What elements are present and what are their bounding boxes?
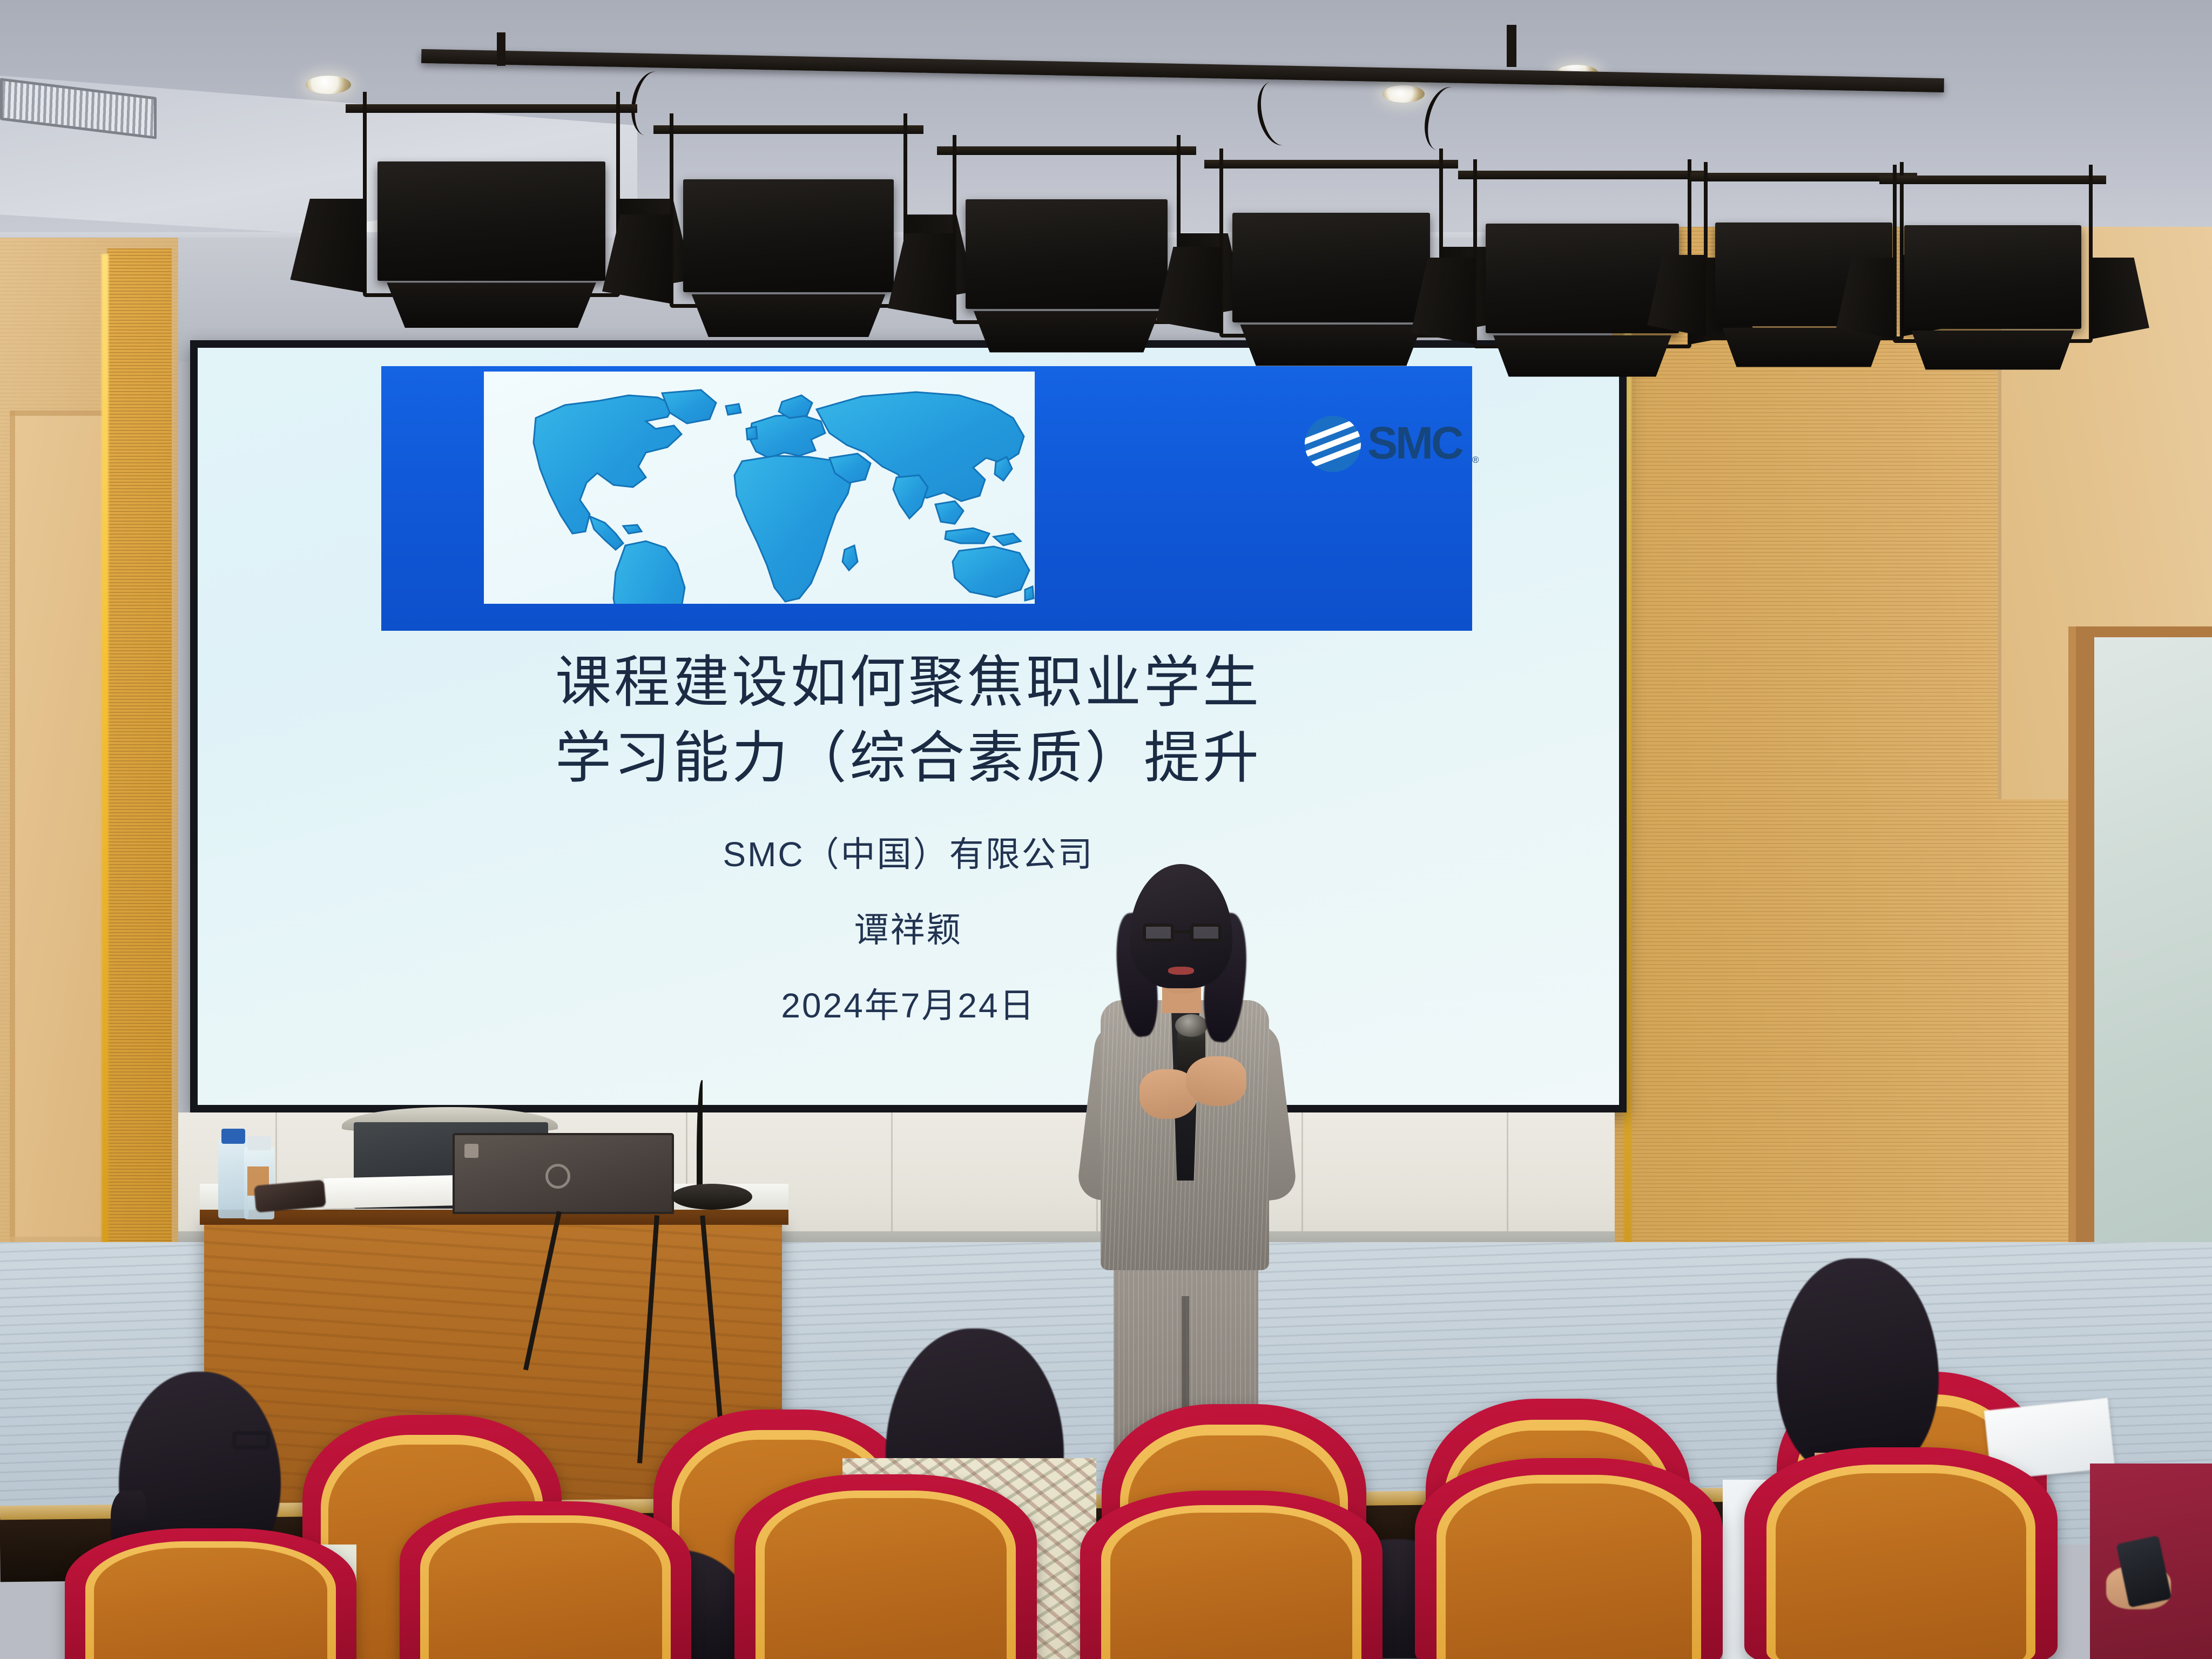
auditorium-seat[interactable]	[734, 1474, 1037, 1659]
auditorium-seat[interactable]	[1080, 1491, 1382, 1659]
truss-drop-rod	[497, 32, 505, 66]
auditorium-seat[interactable]	[1415, 1458, 1723, 1659]
speaker-mouth	[1168, 967, 1194, 975]
truss-drop-rod	[1507, 25, 1516, 67]
speaker-right-hand	[1186, 1056, 1246, 1106]
eyeglasses-icon	[1143, 923, 1222, 942]
auditorium-seat[interactable]	[1744, 1447, 2058, 1659]
projection-screen-frame: SMC ® 课程建设如何聚焦职业学生 学习能力（综合素质）提升 SMC（中国）有…	[190, 340, 1627, 1112]
slide-company: SMC（中国）有限公司	[198, 834, 1619, 875]
stage-light-3	[937, 135, 1196, 324]
slide-date: 2024年7月24日	[198, 985, 1619, 1026]
left-wall-grooved-strip	[107, 248, 172, 1258]
bottle-cap-icon	[221, 1129, 245, 1144]
slide-presenter: 谭祥颖	[198, 909, 1619, 950]
microphone-base	[671, 1184, 752, 1210]
stage-light-2	[653, 113, 923, 308]
world-map-panel	[484, 372, 1035, 604]
world-map-icon	[484, 372, 1035, 604]
projected-slide: SMC ® 课程建设如何聚焦职业学生 学习能力（综合素质）提升 SMC（中国）有…	[198, 348, 1619, 1105]
downlight-icon	[306, 76, 351, 94]
door-handle-icon[interactable]	[2109, 950, 2138, 958]
slide-title-line2: 学习能力（综合素质）提升	[198, 726, 1619, 791]
slide-title-line1: 课程建设如何聚焦职业学生	[198, 650, 1619, 715]
stage-light-7	[1879, 165, 2106, 343]
lecture-hall-photo: SMC ® 课程建设如何聚焦职业学生 学习能力（综合素质）提升 SMC（中国）有…	[0, 0, 2212, 1659]
downlight-icon	[1382, 85, 1425, 103]
dell-logo-icon	[545, 1164, 570, 1189]
bottle-cap-icon	[247, 1136, 271, 1150]
auditorium-seat[interactable]	[65, 1528, 356, 1659]
smc-registered-mark: ®	[1472, 455, 1479, 466]
smc-wordmark: SMC	[1367, 417, 1462, 469]
attendee-head	[1777, 1258, 1939, 1474]
left-wall-light-strip	[102, 254, 109, 1258]
eyeglasses-icon	[232, 1431, 270, 1449]
smc-logo: SMC ®	[1305, 413, 1483, 477]
side-door-glass[interactable]	[2094, 637, 2212, 1253]
microphone-head-icon	[1175, 1014, 1208, 1037]
auditorium-seat[interactable]	[400, 1501, 691, 1659]
laptop-sticker	[464, 1144, 478, 1158]
stage-light-1	[346, 92, 637, 297]
smc-mark-icon	[1305, 416, 1361, 472]
